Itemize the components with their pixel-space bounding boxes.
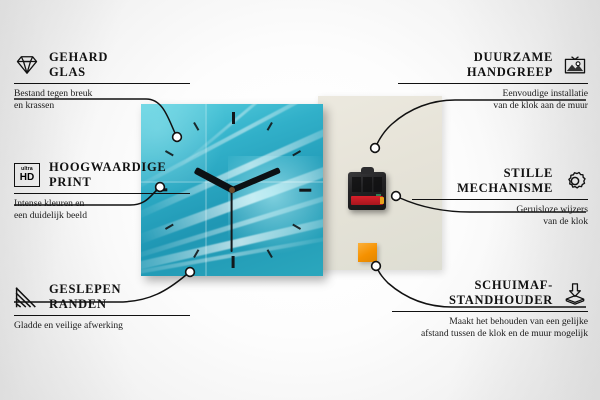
feature-desc-line1: Geruisloze wijzers — [412, 204, 588, 216]
feature-desc-line1: Eenvoudige installatie — [398, 88, 588, 100]
gear-icon — [562, 169, 588, 193]
feature-title-line2: HANDGREEP — [467, 65, 553, 80]
feature-divider — [392, 311, 588, 312]
feature-divider — [14, 83, 190, 84]
feature-geslepen-randen: GESLEPEN RANDEN Gladde en veilige afwerk… — [14, 282, 190, 332]
feature-title-line1: HOOGWAARDIGE — [49, 160, 166, 175]
connector-endpoint-handgreep — [371, 144, 380, 153]
feature-desc-line1: Maakt het behouden van een gelijke — [392, 316, 588, 328]
feature-desc-line2: van de klok — [412, 216, 588, 228]
connector-endpoint-foam — [372, 262, 381, 271]
feature-schuimafstandhouder: SCHUIMAF- STANDHOUDER Maakt het behouden… — [392, 278, 588, 340]
feature-title-line1: GESLEPEN — [49, 282, 121, 297]
feature-desc-line2: een duidelijk beeld — [14, 210, 190, 222]
feature-desc-line2: afstand tussen de klok en de muur mogeli… — [392, 328, 588, 340]
feature-title-line2: STANDHOUDER — [449, 293, 553, 308]
feature-duurzame-handgreep: DUURZAME HANDGREEP Eenvoudige installati… — [398, 50, 588, 112]
feature-title-line1: SCHUIMAF- — [449, 278, 553, 293]
press-down-pad-icon — [562, 281, 588, 305]
feature-desc-line2: en krassen — [14, 100, 190, 112]
feature-desc-line1: Bestand tegen breuk — [14, 88, 190, 100]
diamond-icon — [14, 53, 40, 77]
feature-desc-line2: van de klok aan de muur — [398, 100, 588, 112]
feature-stille-mechanisme: STILLE MECHANISME Geruisloze wijzers van… — [412, 166, 588, 228]
ultra-hd-icon: ultra HD — [14, 163, 40, 187]
feature-title-line2: GLAS — [49, 65, 108, 80]
feature-title-line1: GEHARD — [49, 50, 108, 65]
infographic-canvas: GEHARD GLAS Bestand tegen breuk en krass… — [0, 0, 600, 400]
feature-divider — [14, 315, 190, 316]
feature-title-line2: RANDEN — [49, 297, 121, 312]
ultra-hd-icon-main-label: HD — [20, 173, 34, 183]
feature-divider — [412, 199, 588, 200]
feature-divider — [398, 83, 588, 84]
feature-desc-line1: Gladde en veilige afwerking — [14, 320, 190, 332]
feature-title-line2: PRINT — [49, 175, 166, 190]
feature-divider — [14, 193, 190, 194]
ultra-hd-icon-top-label: ultra — [21, 167, 33, 172]
feature-title-line1: STILLE — [457, 166, 553, 181]
feature-gehard-glas: GEHARD GLAS Bestand tegen breuk en krass… — [14, 50, 190, 112]
connector-endpoint-gehard-glas — [173, 133, 182, 142]
feature-title-line1: DUURZAME — [467, 50, 553, 65]
feature-desc-line1: Intense kleuren en — [14, 198, 190, 210]
connector-endpoint-mechanisme — [392, 192, 401, 201]
picture-frame-icon — [562, 53, 588, 77]
bevelled-edges-icon — [14, 285, 40, 309]
feature-title-line2: MECHANISME — [457, 181, 553, 196]
feature-hoogwaardige-print: ultra HD HOOGWAARDIGE PRINT Intense kleu… — [14, 160, 190, 222]
connector-endpoint-randen — [186, 268, 195, 277]
